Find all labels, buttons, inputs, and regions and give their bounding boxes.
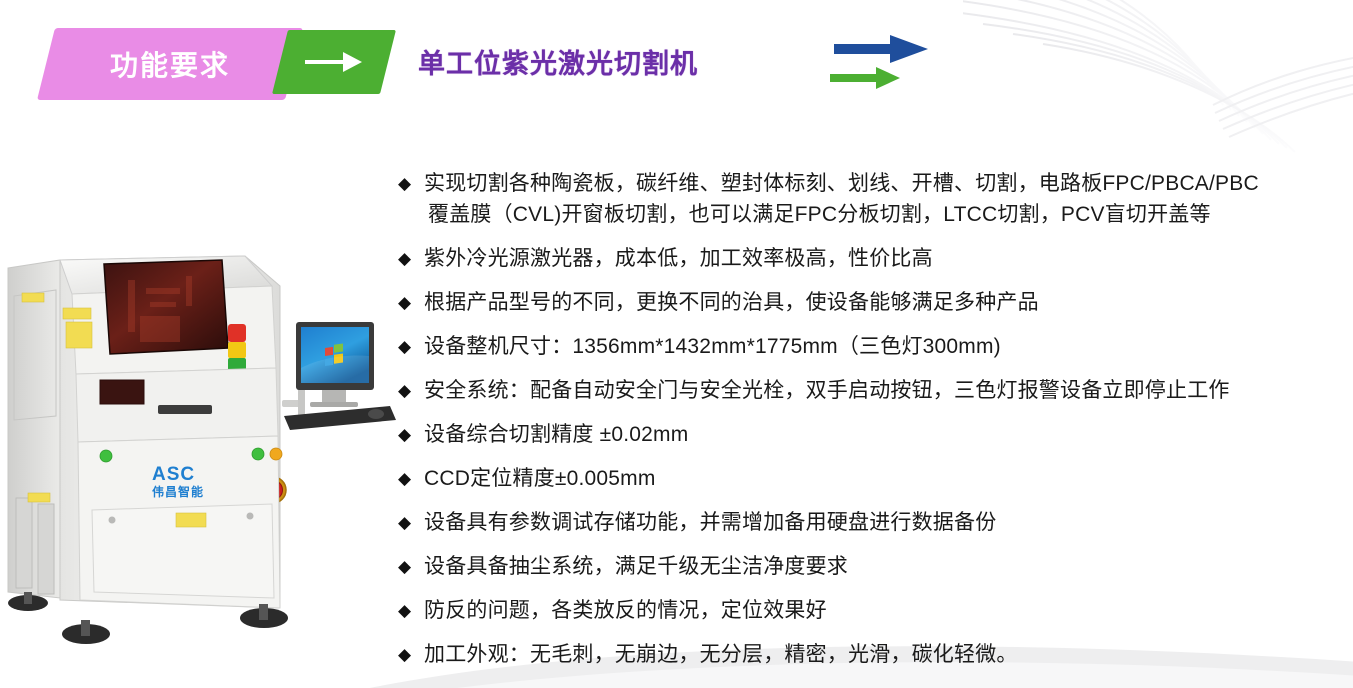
warning-label	[66, 322, 92, 348]
list-item-text: 实现切割各种陶瓷板，碳纤维、塑封体标刻、划线、开槽、切割，电路板FPC/PBCA…	[424, 168, 1348, 230]
list-item: ◆ 设备具备抽尘系统，满足千级无尘洁净度要求	[398, 551, 1348, 582]
list-item-text: CCD定位精度±0.005mm	[424, 463, 1348, 494]
feature-list: ◆ 实现切割各种陶瓷板，碳纤维、塑封体标刻、划线、开槽、切割，电路板FPC/PB…	[398, 168, 1348, 683]
monitor-neck	[322, 390, 346, 402]
list-item: ◆ 加工外观：无毛刺，无崩边，无分层，精密，光滑，碳化轻微。	[398, 639, 1348, 670]
list-item-text: 设备具备抽尘系统，满足千级无尘洁净度要求	[424, 551, 1348, 582]
list-item-text: 安全系统：配备自动安全门与安全光栓，双手启动按钮，三色灯报警设备立即停止工作	[424, 375, 1348, 406]
list-item: ◆ 设备具有参数调试存储功能，并需增加备用硬盘进行数据备份	[398, 507, 1348, 538]
list-item-text: 根据产品型号的不同，更换不同的治具，使设备能够满足多种产品	[424, 287, 1348, 318]
bullet-diamond-icon: ◆	[398, 507, 424, 538]
list-item-text: 设备具有参数调试存储功能，并需增加备用硬盘进行数据备份	[424, 507, 1348, 538]
list-item: ◆ 防反的问题，各类放反的情况，定位效果好	[398, 595, 1348, 626]
list-item-text: 设备整机尺寸：1356mm*1432mm*1775mm（三色灯300mm)	[424, 331, 1348, 362]
tower-lamp-red	[228, 324, 246, 342]
bullet-diamond-icon: ◆	[398, 168, 424, 199]
tower-lamp-yellow	[228, 342, 246, 358]
mouse	[368, 409, 384, 419]
product-photo-laser-cutter: ASC 伟昌智能	[0, 168, 400, 676]
bullet-diamond-icon: ◆	[398, 287, 424, 318]
list-item-text: 防反的问题，各类放反的情况，定位效果好	[424, 595, 1348, 626]
monitor-base	[310, 402, 358, 407]
section-tag-label: 功能要求	[46, 28, 294, 100]
list-item: ◆ CCD定位精度±0.005mm	[398, 463, 1348, 494]
start-button-green	[100, 450, 112, 462]
list-item: ◆ 根据产品型号的不同，更换不同的治具，使设备能够满足多种产品	[398, 287, 1348, 318]
slide-root: 功能要求 单工位紫光激光切割机	[0, 0, 1353, 688]
warning-label	[28, 493, 50, 502]
arrow-right-blue-icon	[834, 35, 928, 63]
list-item: ◆ 设备整机尺寸：1356mm*1432mm*1775mm（三色灯300mm)	[398, 331, 1348, 362]
bullet-diamond-icon: ◆	[398, 419, 424, 450]
bullet-diamond-icon: ◆	[398, 463, 424, 494]
door-handle	[158, 405, 212, 414]
bullet-diamond-icon: ◆	[398, 243, 424, 274]
list-item-text: 设备综合切割精度 ±0.02mm	[424, 419, 1348, 450]
bullet-diamond-icon: ◆	[398, 331, 424, 362]
svg-text:ASC: ASC	[152, 464, 195, 485]
list-item-text: 紫外冷光源激光器，成本低，加工效率极高，性价比高	[424, 243, 1348, 274]
vent-grille-left	[16, 498, 32, 588]
list-item: ◆ 安全系统：配备自动安全门与安全光栓，双手启动按钮，三色灯报警设备立即停止工作	[398, 375, 1348, 406]
list-item: ◆ 设备综合切割精度 ±0.02mm	[398, 419, 1348, 450]
display-window	[100, 380, 144, 404]
start-button-green-2	[252, 448, 264, 460]
bullet-diamond-icon: ◆	[398, 375, 424, 406]
decor-arrows	[828, 22, 948, 92]
warning-label	[22, 293, 44, 302]
warning-label	[63, 308, 91, 319]
bullet-diamond-icon: ◆	[398, 551, 424, 582]
list-item-text: 加工外观：无毛刺，无崩边，无分层，精密，光滑，碳化轻微。	[424, 639, 1348, 670]
warning-label	[176, 513, 206, 527]
bullet-diamond-icon: ◆	[398, 639, 424, 670]
bullet-diamond-icon: ◆	[398, 595, 424, 626]
list-item: ◆ 紫外冷光源激光器，成本低，加工效率极高，性价比高	[398, 243, 1348, 274]
arrow-right-icon	[280, 30, 388, 94]
list-item: ◆ 实现切割各种陶瓷板，碳纤维、塑封体标刻、划线、开槽、切割，电路板FPC/PB…	[398, 168, 1348, 230]
arrow-right-green-icon	[830, 67, 900, 89]
page-title: 单工位紫光激光切割机	[418, 42, 698, 81]
mode-button-amber	[270, 448, 282, 460]
vent-grille-right	[38, 504, 54, 594]
svg-text:伟昌智能: 伟昌智能	[152, 484, 204, 499]
